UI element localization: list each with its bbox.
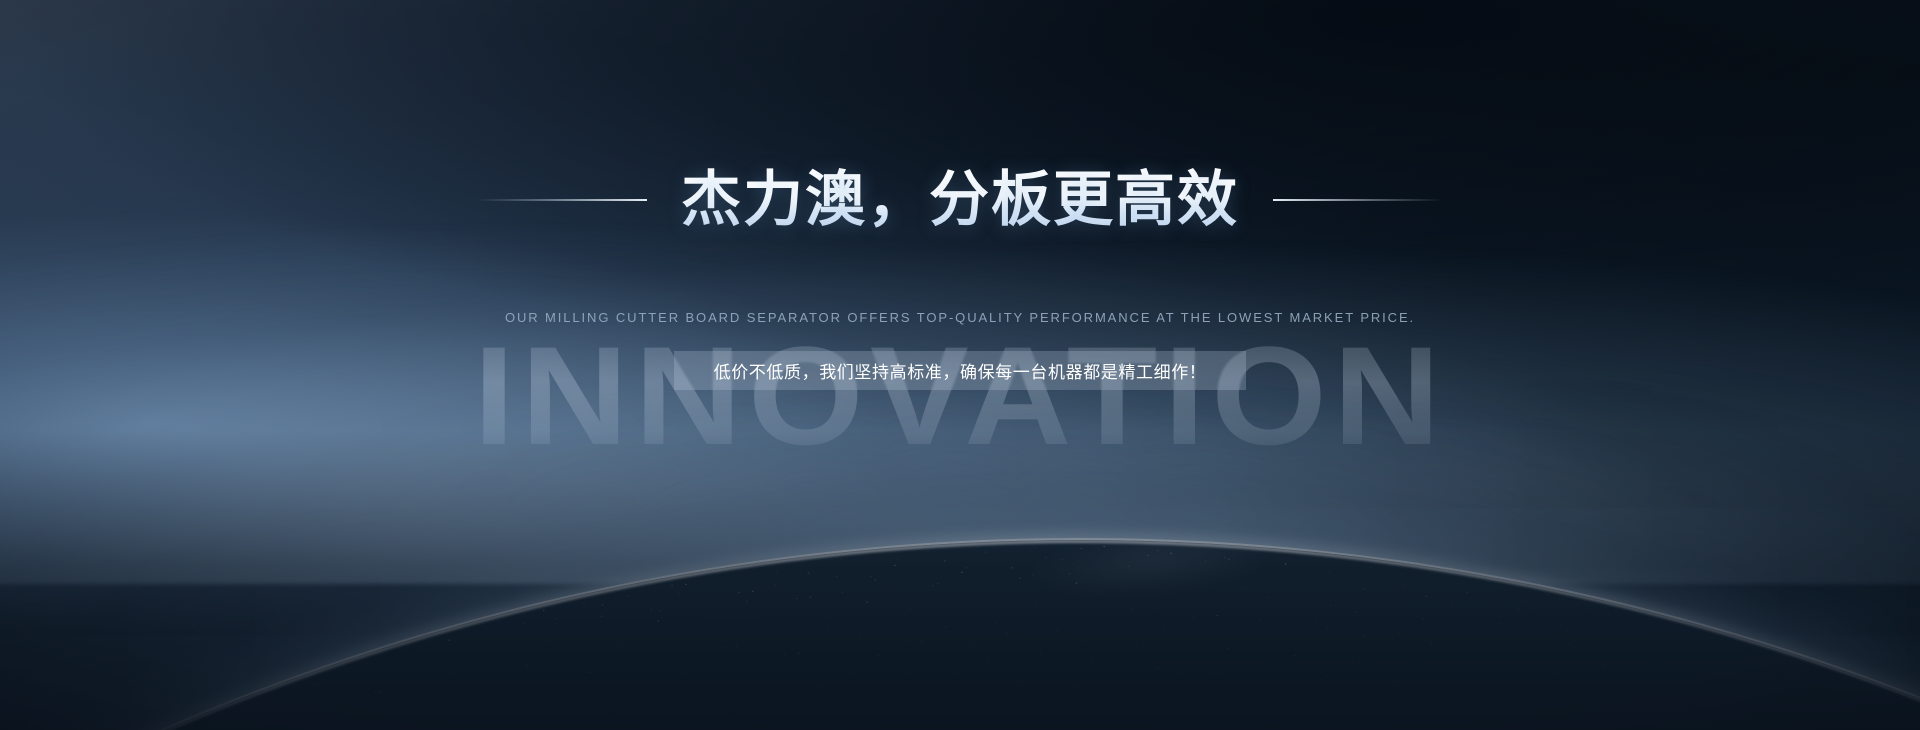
tagline-bar: 低价不低质，我们坚持高标准，确保每一台机器都是精工细作！ <box>674 351 1246 390</box>
headline-row: 杰力澳，分板更高效 <box>0 128 1920 272</box>
decorative-rule-right <box>1273 199 1443 201</box>
banner-subtitle: OUR MILLING CUTTER BOARD SEPARATOR OFFER… <box>0 310 1920 325</box>
hero-banner: INNOVATION 杰力澳，分板更高效 OUR MILLING CUTTER … <box>0 0 1920 730</box>
city-lights-layer <box>0 341 1920 730</box>
banner-content: 杰力澳，分板更高效 OUR MILLING CUTTER BOARD SEPAR… <box>0 0 1920 390</box>
tagline-row: 低价不低质，我们坚持高标准，确保每一台机器都是精工细作！ <box>0 351 1920 390</box>
decorative-rule-left <box>477 199 647 201</box>
banner-headline: 杰力澳，分板更高效 <box>681 168 1239 232</box>
